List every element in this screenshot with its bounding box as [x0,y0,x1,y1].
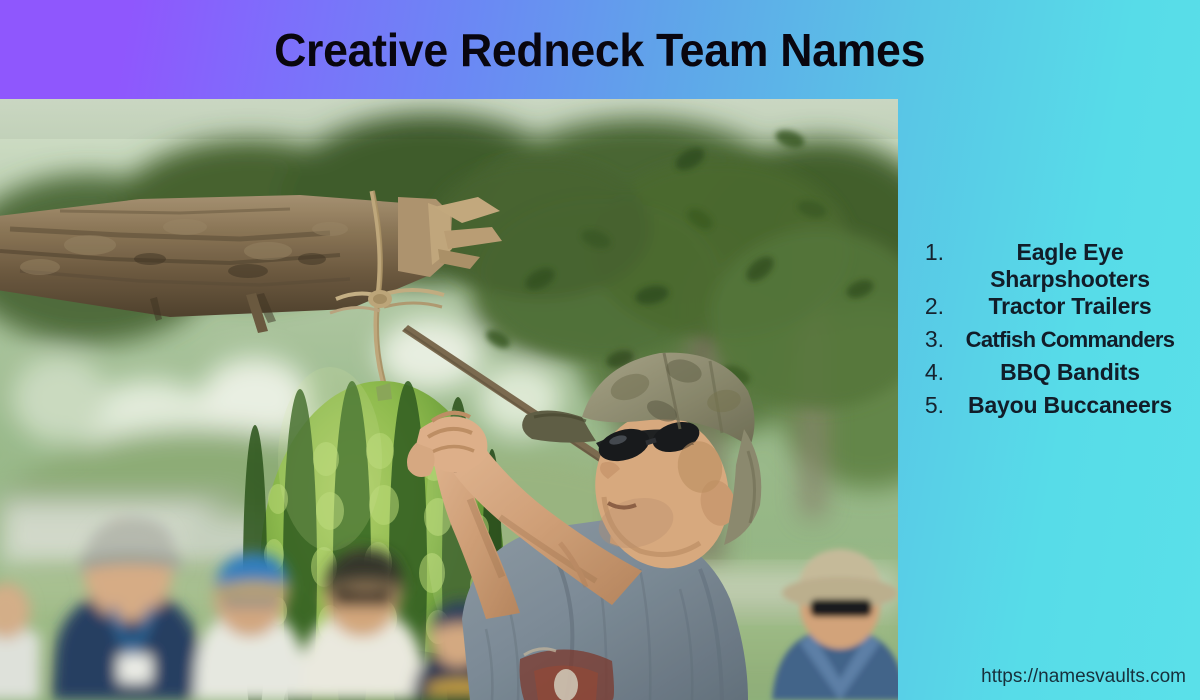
photo-watermelon-contest [0,99,898,700]
list-item-number: 5. [898,392,944,419]
list-item: 1. Eagle Eye Sharpshooters [898,239,1200,293]
list-item-number: 4. [898,359,944,386]
poster-canvas: Creative Redneck Team Names [0,0,1200,700]
list-item-number: 2. [898,293,944,320]
list-item-label: Tractor Trailers [944,293,1200,320]
list-item-label: BBQ Bandits [944,359,1200,386]
list-item-label: Catfish Commanders [944,327,1200,353]
team-names-panel: 1. Eagle Eye Sharpshooters 2. Tractor Tr… [898,99,1200,700]
team-names-list: 1. Eagle Eye Sharpshooters 2. Tractor Tr… [898,239,1200,425]
list-item-label: Eagle Eye Sharpshooters [944,239,1200,293]
page-title: Creative Redneck Team Names [274,23,925,77]
list-item-number: 1. [898,239,944,266]
list-item-number: 3. [898,326,944,353]
list-item: 4. BBQ Bandits [898,359,1200,392]
list-item: 5. Bayou Buccaneers [898,392,1200,425]
site-url[interactable]: https://namesvaults.com [981,666,1186,688]
list-item: 2. Tractor Trailers [898,293,1200,326]
photo-illustration [0,99,898,700]
list-item-label: Bayou Buccaneers [944,392,1200,419]
list-item: 3. Catfish Commanders [898,326,1200,359]
title-banner: Creative Redneck Team Names [0,0,1200,99]
